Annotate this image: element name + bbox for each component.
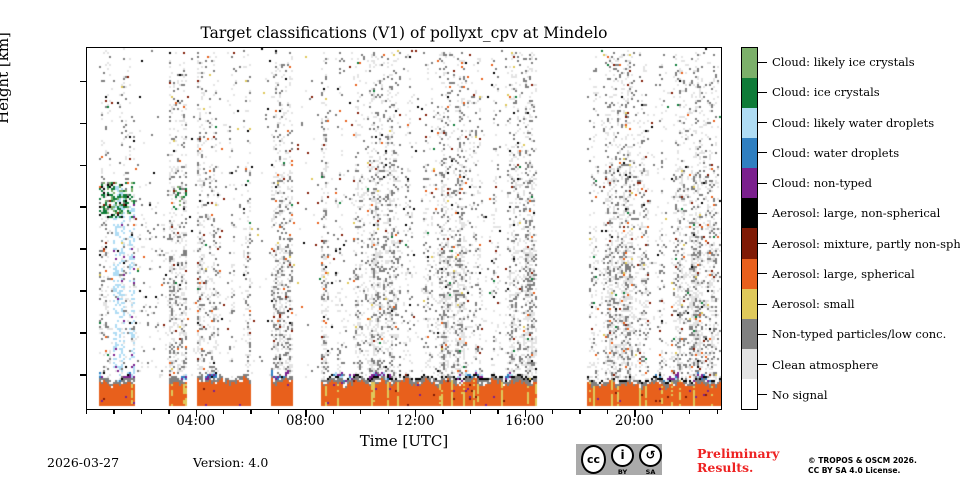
x-tick-label-0: 04:00 [161,413,231,429]
copyright-line-2: CC BY SA 4.0 License. [808,466,917,476]
cc-by-icon: i BY [611,444,634,476]
legend-item-11: No signal [758,380,828,410]
colorbar-swatch-11 [742,379,757,409]
legend-label-4: Cloud: non-typed [772,176,872,190]
legend-label-3: Cloud: water droplets [772,146,899,160]
colorbar-swatch-2 [742,108,757,138]
legend-item-7: Aerosol: large, spherical [758,259,915,289]
legend-item-4: Cloud: non-typed [758,168,872,198]
legend-label-9: Non-typed particles/low conc. [772,327,946,341]
copyright-notice: © TROPOS & OSCM 2026. CC BY SA 4.0 Licen… [808,456,917,476]
legend-tick-7 [758,273,767,274]
legend-tick-9 [758,334,767,335]
colorbar-swatch-3 [742,138,757,168]
legend-label-10: Clean atmosphere [772,358,878,372]
x-tick-label-4: 20:00 [599,413,669,429]
preliminary-line-1: Preliminary [697,447,779,461]
legend-tick-0 [758,62,767,63]
cc-sa-label: SA [646,468,656,476]
legend-item-9: Non-typed particles/low conc. [758,319,946,349]
legend-item-8: Aerosol: small [758,289,855,319]
legend-tick-10 [758,364,767,365]
cc-sa-icon: ↺ SA [639,444,662,476]
colorbar-swatch-10 [742,349,757,379]
y-axis-label: Height [km] [0,0,12,168]
legend-tick-4 [758,183,767,184]
colorbar-swatch-4 [742,168,757,198]
legend-item-1: Cloud: ice crystals [758,77,880,107]
x-tick-mark-10 [360,410,361,414]
legend-tick-6 [758,243,767,244]
x-tick-label-1: 08:00 [270,413,340,429]
x-tick-mark-2 [141,410,142,414]
x-tick-mark-0 [86,410,87,414]
colorbar-swatch-8 [742,289,757,319]
legend-label-1: Cloud: ice crystals [772,85,880,99]
cc-by-label: BY [618,468,627,476]
legend-item-0: Cloud: likely ice crystals [758,47,915,77]
colorbar [741,47,758,410]
legend-item-2: Cloud: likely water droplets [758,108,934,138]
legend-label-7: Aerosol: large, spherical [772,267,915,281]
legend-label-8: Aerosol: small [772,297,855,311]
legend-item-3: Cloud: water droplets [758,138,899,168]
creative-commons-badge: cc i BY ↺ SA [576,444,662,475]
x-tick-label-2: 12:00 [380,413,450,429]
legend-tick-3 [758,152,767,153]
preliminary-line-2: Results. [697,461,779,475]
classification-heatmap [87,48,722,410]
colorbar-swatch-0 [742,48,757,78]
legend-tick-8 [758,304,767,305]
legend-item-6: Aerosol: mixture, partly non-spherical [758,229,960,259]
legend-tick-1 [758,92,767,93]
x-tick-mark-23 [717,410,718,414]
colorbar-swatch-9 [742,319,757,349]
legend-item-10: Clean atmosphere [758,350,878,380]
legend-label-5: Aerosol: large, non-spherical [772,206,940,220]
legend-label-6: Aerosol: mixture, partly non-spherical [772,237,960,251]
footer-version: Version: 4.0 [193,455,268,470]
cc-sa-glyph: ↺ [639,444,662,467]
legend-label-11: No signal [772,388,828,402]
legend-item-5: Aerosol: large, non-spherical [758,198,940,228]
plot-area [86,47,722,410]
x-tick-mark-14 [470,410,471,414]
page-title: Target classifications (V1) of pollyxt_c… [86,24,722,42]
x-tick-mark-6 [250,410,251,414]
x-tick-mark-22 [689,410,690,414]
colorbar-swatch-1 [742,78,757,108]
cc-by-glyph: i [611,444,634,467]
legend-tick-5 [758,213,767,214]
x-tick-label-3: 16:00 [490,413,560,429]
legend-label-0: Cloud: likely ice crystals [772,55,915,69]
colorbar-swatch-6 [742,228,757,258]
cc-logo-icon: cc [581,445,606,474]
legend-tick-2 [758,122,767,123]
colorbar-swatch-7 [742,259,757,289]
legend-label-2: Cloud: likely water droplets [772,116,934,130]
legend-tick-11 [758,394,767,395]
x-tick-mark-18 [579,410,580,414]
preliminary-results-notice: Preliminary Results. [697,447,779,475]
x-tick-mark-1 [113,410,114,414]
colorbar-swatch-5 [742,198,757,228]
figure: Target classifications (V1) of pollyxt_c… [0,0,960,480]
copyright-line-1: © TROPOS & OSCM 2026. [808,456,917,466]
footer-date: 2026-03-27 [47,455,119,470]
